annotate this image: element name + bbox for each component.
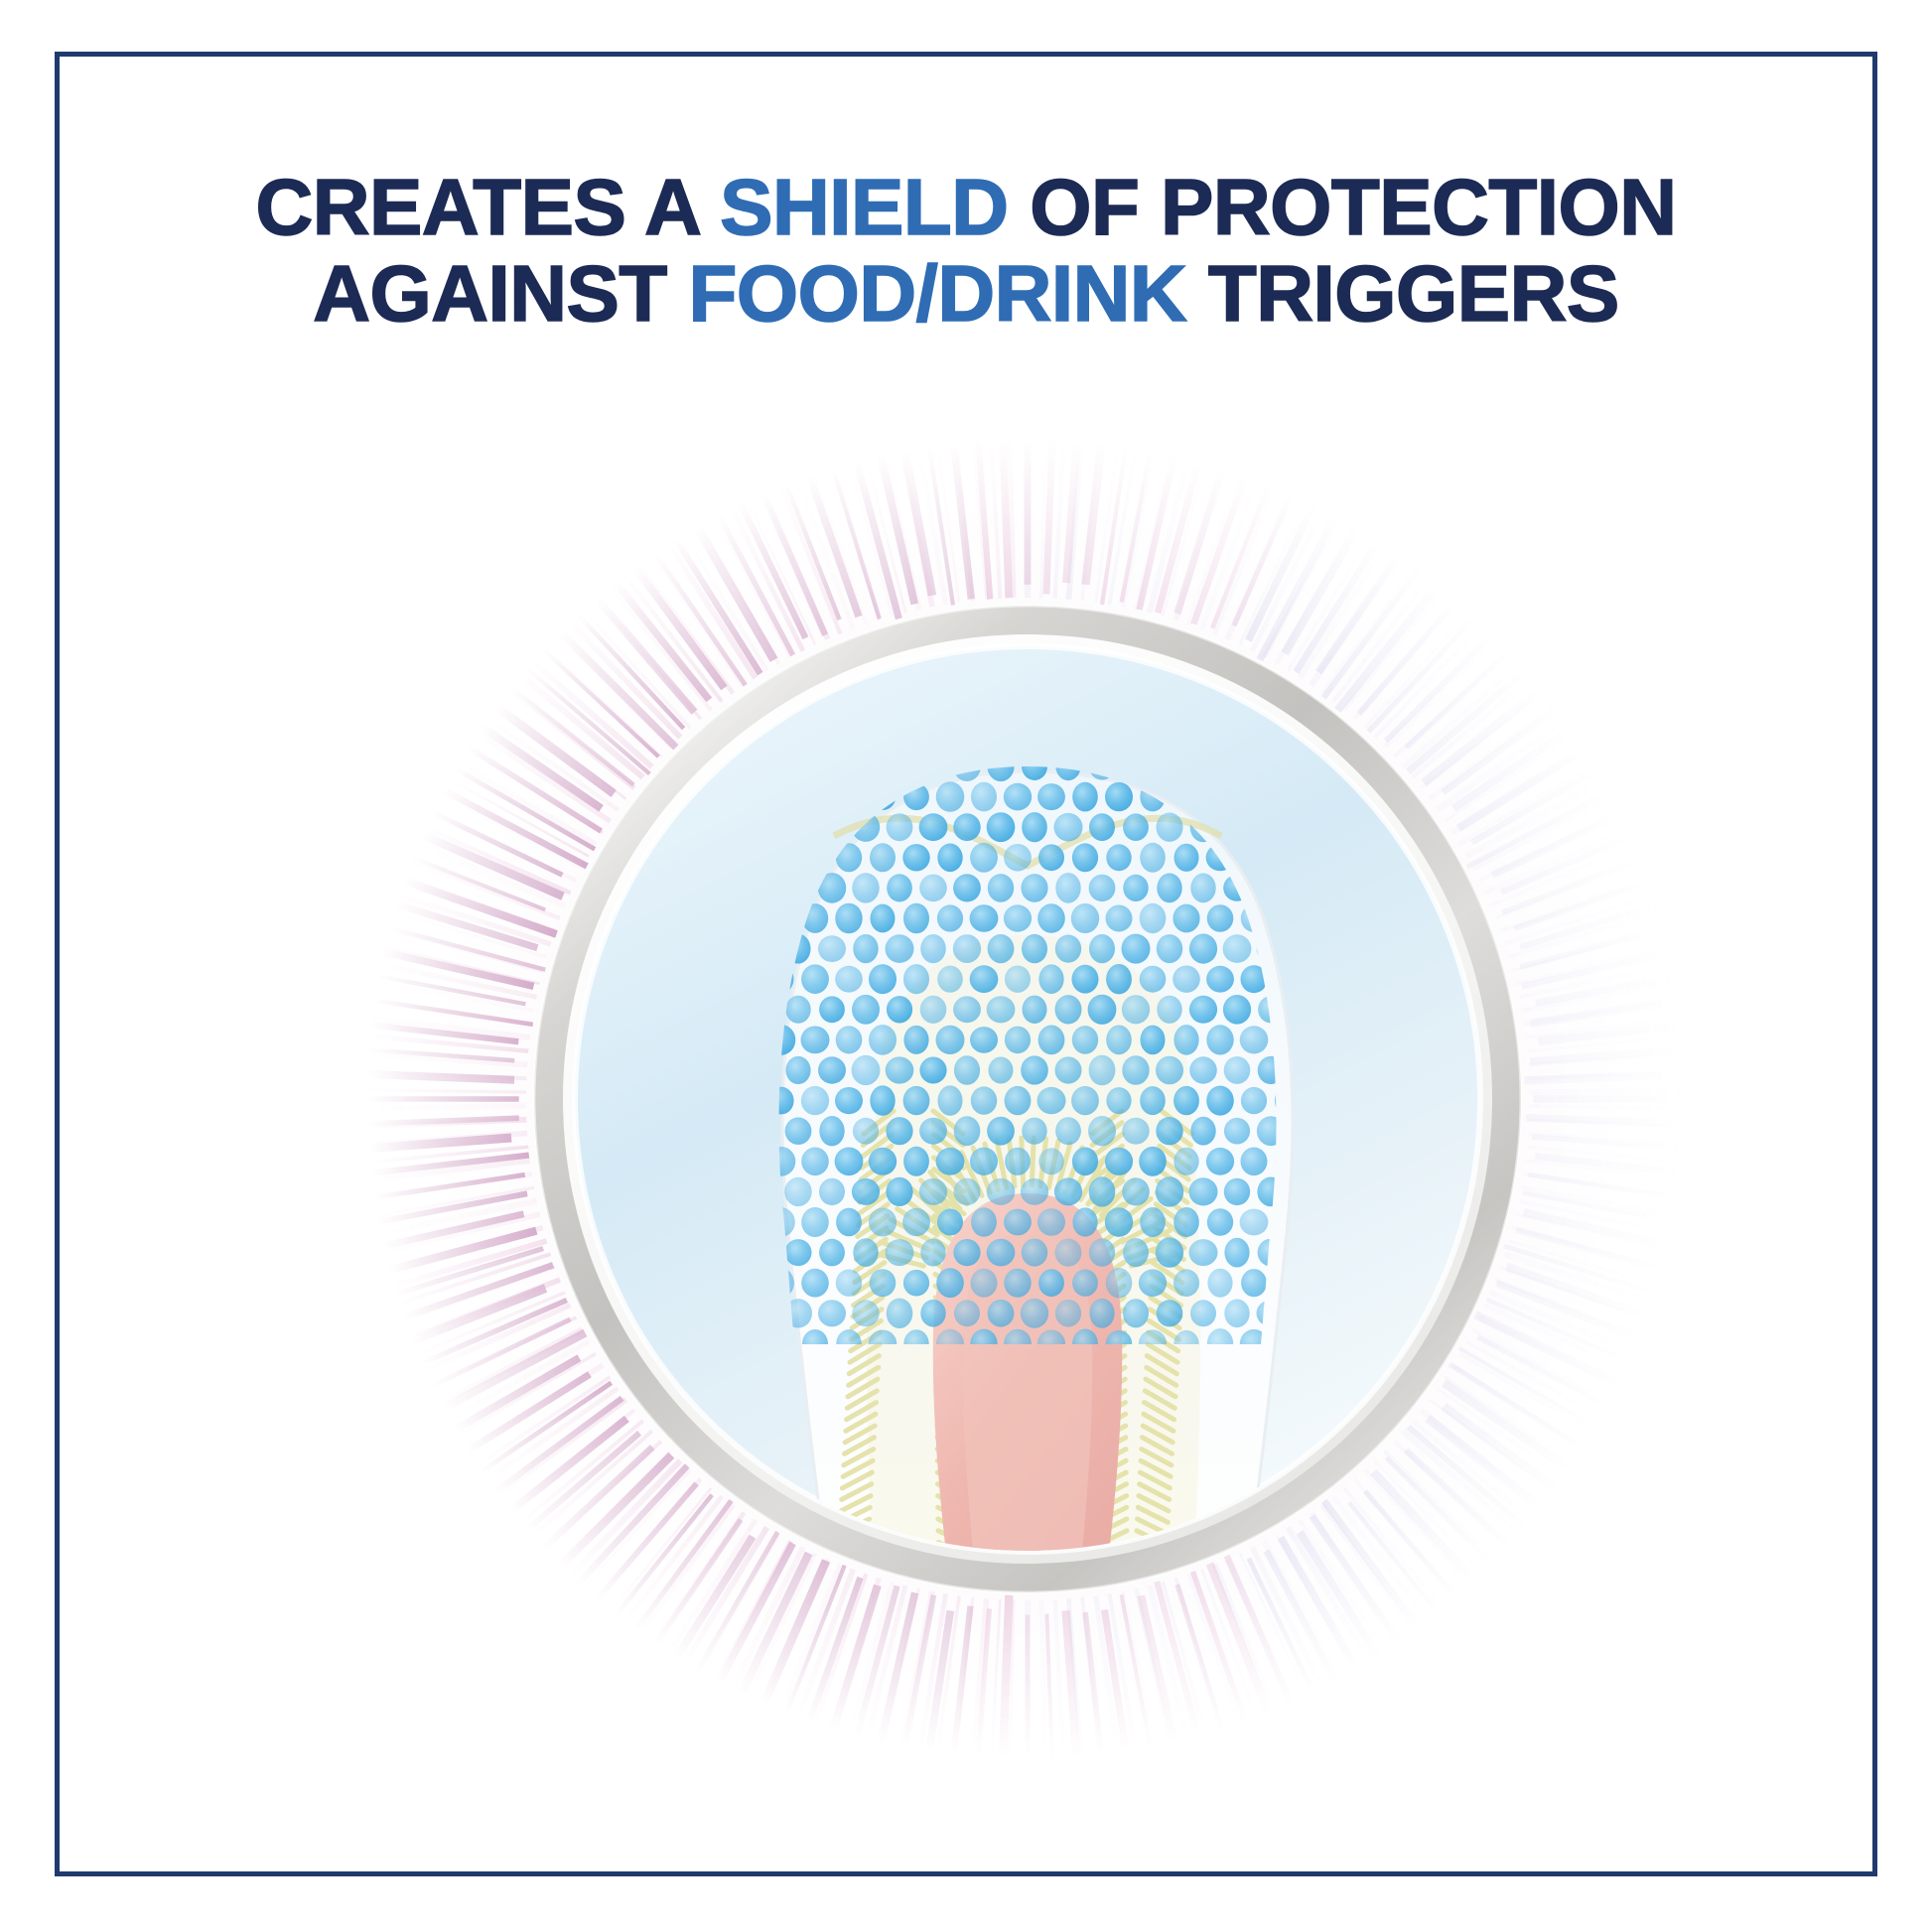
headline-line-2: AGAINST FOOD/DRINK TRIGGERS [60, 250, 1872, 337]
headline-line-1: CREATES A SHIELD OF PROTECTION [60, 164, 1872, 250]
illustration-stage [526, 598, 1529, 1769]
headline-line-1-highlight: SHIELD [720, 163, 1008, 251]
headline-line-2-part-1: AGAINST [313, 249, 688, 338]
headline-line-1-part-2: OF PROTECTION [1008, 163, 1676, 251]
tooth [751, 752, 1302, 1630]
headline-line-2-highlight: FOOD/DRINK [689, 249, 1187, 338]
headline-line-2-part-2: TRIGGERS [1186, 249, 1619, 338]
headline-line-1-part-1: CREATES A [256, 163, 721, 251]
page-frame: CREATES A SHIELD OF PROTECTION AGAINST F… [55, 52, 1877, 1876]
page-title: CREATES A SHIELD OF PROTECTION AGAINST F… [60, 164, 1872, 337]
tooth-cross-section-shield-diagram [367, 439, 1688, 1759]
